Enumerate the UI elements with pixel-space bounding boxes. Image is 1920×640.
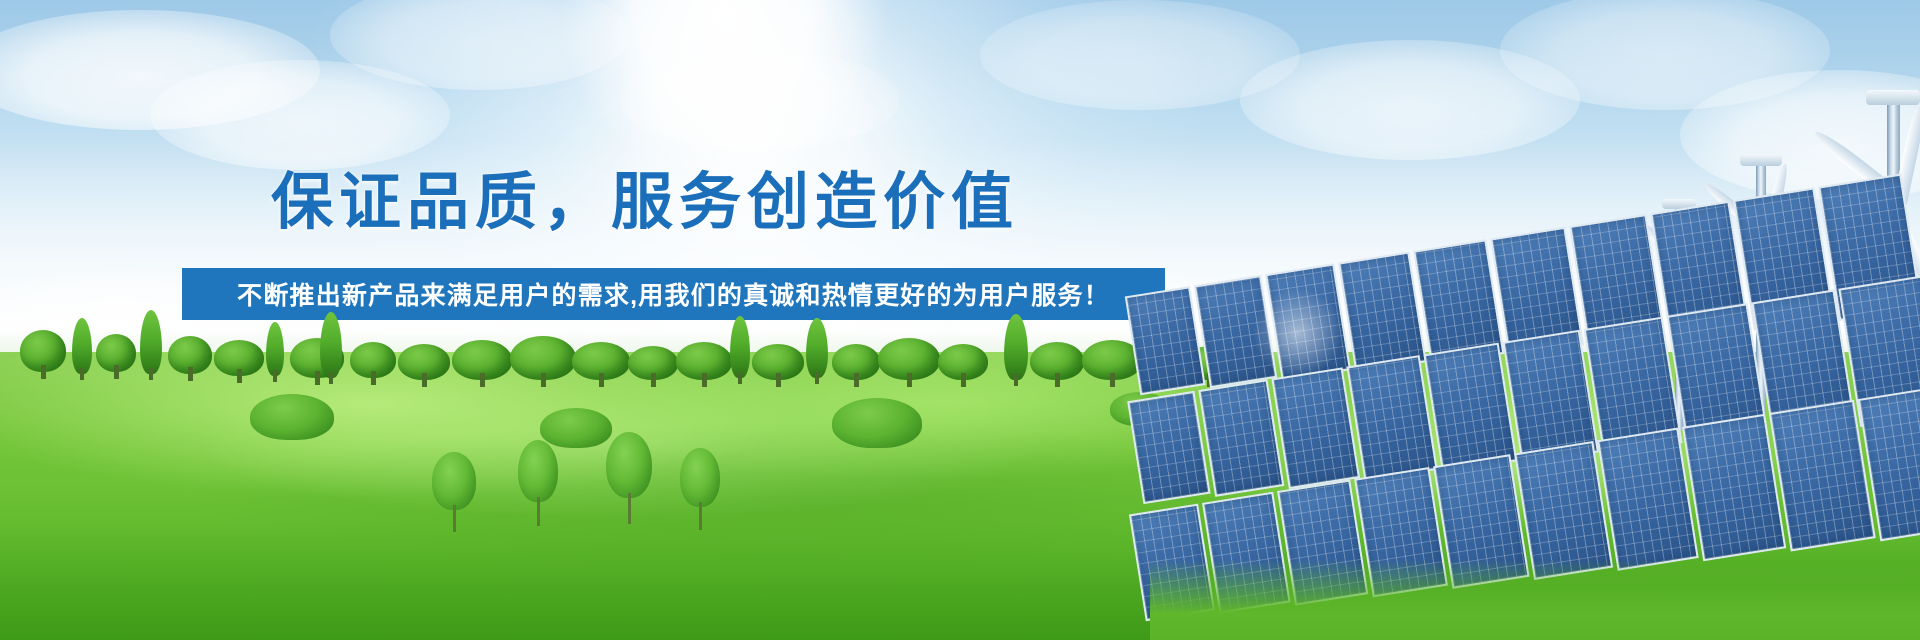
tree [398, 344, 450, 380]
tree [452, 340, 512, 380]
solar-panel [1198, 379, 1284, 497]
tree [832, 344, 880, 380]
tree [938, 344, 988, 380]
tree [572, 342, 630, 380]
foreground-grass-overlay [1150, 560, 1920, 640]
tree [320, 312, 342, 378]
solar-panel [1769, 400, 1876, 552]
tree [730, 316, 750, 378]
sapling [606, 432, 652, 524]
solar-panel [1423, 343, 1517, 473]
tree [20, 330, 66, 372]
solar-panel [1682, 414, 1786, 561]
solar-panel [1346, 355, 1437, 481]
cloud [1500, 0, 1830, 110]
bush [250, 394, 334, 440]
bush [832, 398, 922, 448]
banner-subtitle-text: 不断推出新产品来满足用户的需求,用我们的真诚和热情更好的为用户服务！ [237, 276, 1110, 312]
sapling [432, 452, 476, 532]
tree [72, 318, 92, 374]
tree [1030, 342, 1084, 380]
cloud [980, 0, 1300, 110]
hero-banner: 保证品质，服务创造价值 不断推出新产品来满足用户的需求,用我们的真诚和热情更好的… [0, 0, 1920, 640]
tree [510, 336, 576, 380]
tree [676, 342, 732, 380]
tree [752, 344, 804, 380]
tree [214, 340, 264, 376]
tree [350, 342, 396, 378]
tree [878, 338, 940, 380]
sapling [680, 448, 720, 530]
solar-panel [1271, 367, 1360, 489]
solar-panel [1597, 428, 1699, 571]
banner-headline: 保证品质，服务创造价值 [0, 168, 1290, 238]
tree [1004, 314, 1028, 380]
sapling [518, 440, 558, 526]
tree [140, 310, 162, 374]
tree [266, 322, 284, 376]
tree [806, 318, 828, 378]
tree [168, 336, 212, 374]
cloud [0, 10, 320, 130]
tree [96, 334, 136, 372]
tree [628, 346, 678, 380]
solar-panel [1125, 286, 1206, 395]
